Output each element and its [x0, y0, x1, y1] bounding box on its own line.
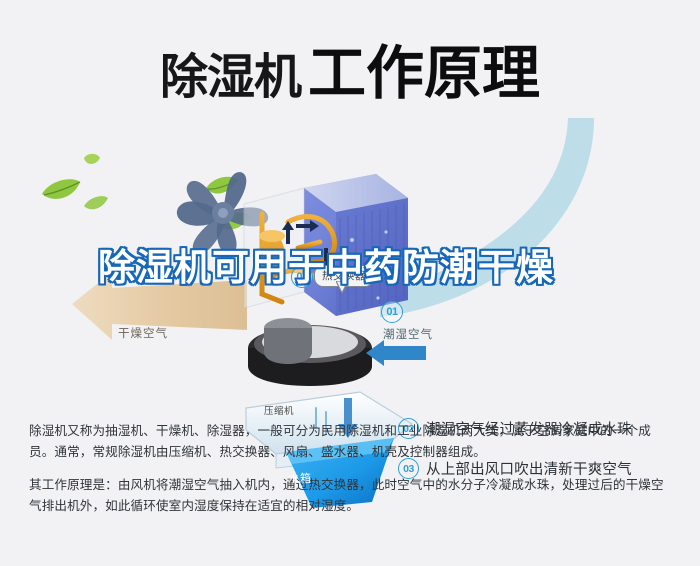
diagram-marker-02: 02 [291, 266, 313, 288]
article-body: 除湿机又称为抽湿机、干燥机、除湿器，一般可分为民用除湿机和工业除湿机两大类，属于… [29, 420, 674, 528]
diagram-marker-03: 03 [108, 262, 130, 284]
infographic-page: 除湿机工作原理 [0, 0, 700, 566]
dehumidifier-diagram: 干燥空气 潮湿空气 压缩机 水箱 03 02 01 热交换器 02 潮湿空气经过… [0, 118, 700, 408]
diagram-marker-01: 01 [381, 301, 403, 323]
callout-pointer-icon [336, 281, 348, 293]
water-tank-label: 水箱 [288, 470, 312, 486]
page-title-part2: 工作原理 [308, 39, 540, 107]
article-paragraph-2: 其工作原理是：由风机将潮湿空气抽入机内，通过热交换器，此时空气中的水分子冷凝成水… [29, 474, 674, 516]
leaf-icon-group-left [28, 150, 120, 230]
dry-air-label: 干燥空气 [118, 325, 168, 341]
compressor-label: 压缩机 [264, 403, 294, 417]
page-title-part1: 除湿机 [160, 49, 301, 105]
humid-air-inlet-arrow-icon [366, 340, 426, 366]
page-title: 除湿机工作原理 [0, 26, 700, 110]
humid-air-label: 潮湿空气 [383, 326, 433, 342]
article-paragraph-1: 除湿机又称为抽湿机、干燥机、除湿器，一般可分为民用除湿机和工业除湿机两大类，属于… [29, 420, 674, 462]
